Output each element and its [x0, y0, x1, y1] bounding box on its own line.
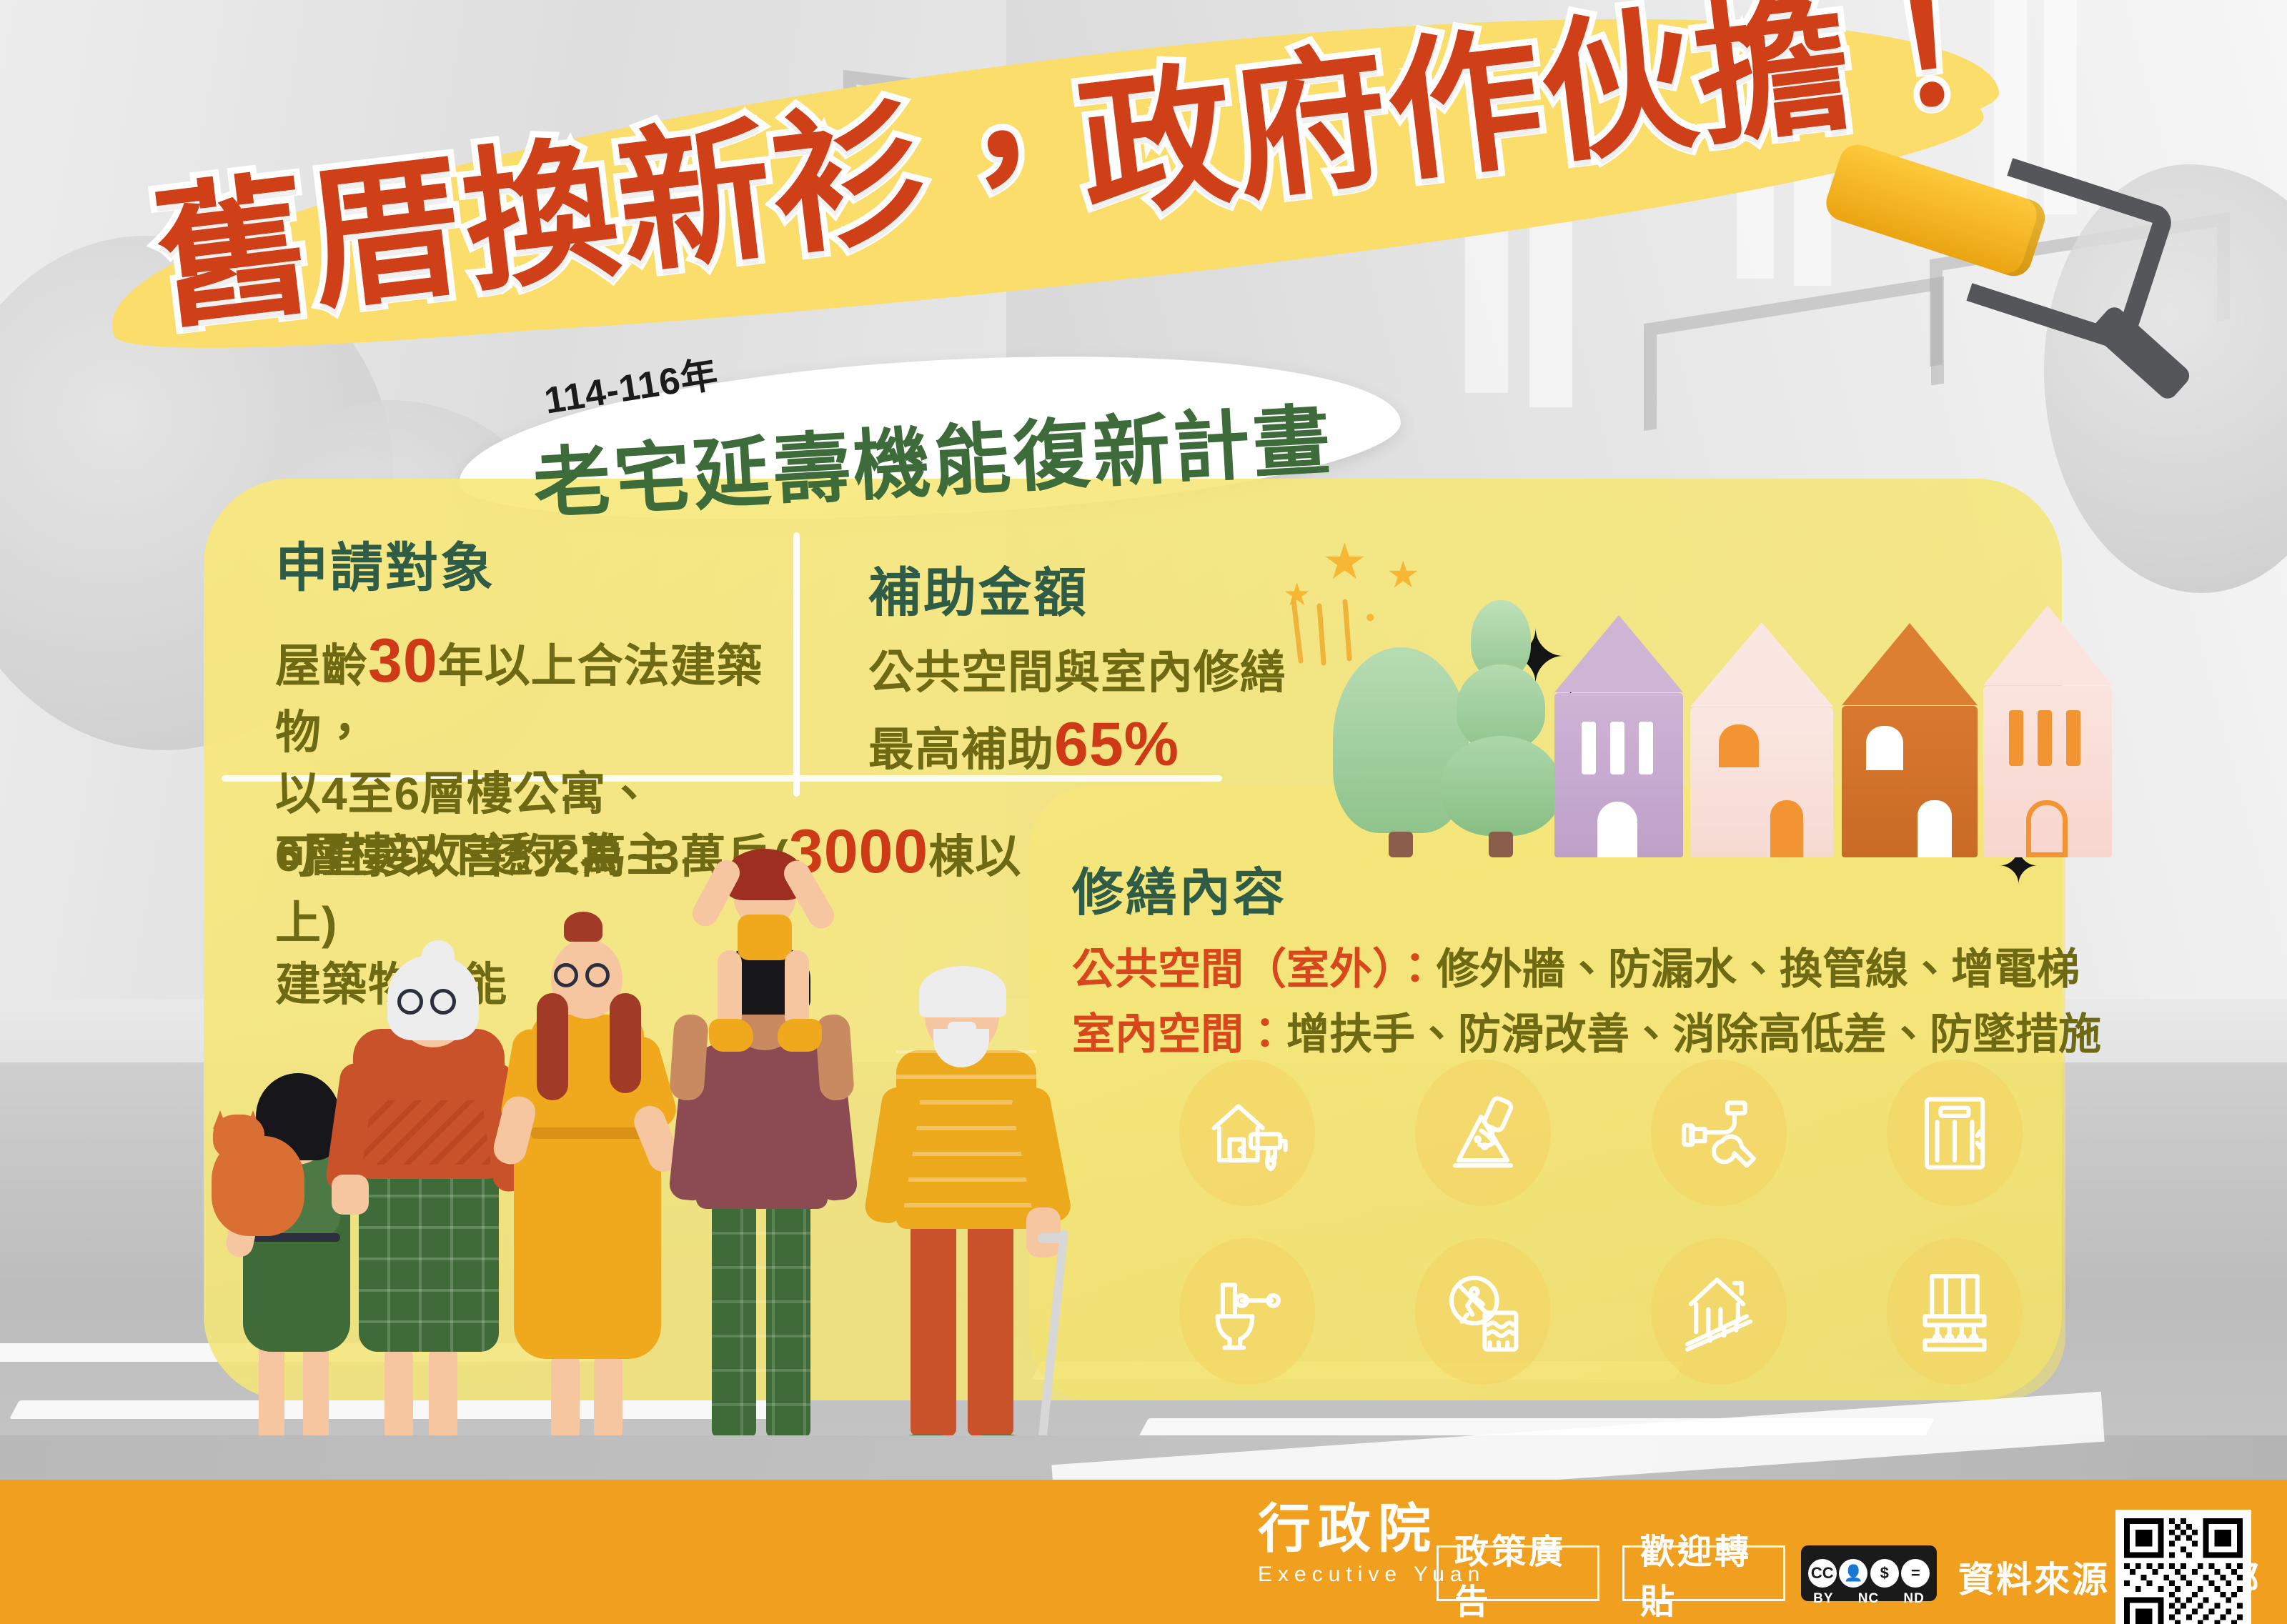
cc-by-icon: 👤 — [1839, 1559, 1867, 1588]
scope-row-indoor: 室內空間：增扶手、防滑改善、消除高低差、防墜措施 — [1072, 1006, 2094, 1062]
scope-public-label: 公共空間（室外）： — [1072, 945, 1437, 993]
footer-bar: 行政院 Executive Yuan 政策廣告 歡迎轉貼 CC 👤 $ = BY… — [0, 1480, 2287, 1624]
waterproofing-trowel-icon — [1439, 1089, 1527, 1176]
scope-public-value: 修外牆、防漏水、換管線、增電梯 — [1437, 945, 2080, 993]
scope-heading: 修繕內容 — [1072, 850, 2094, 925]
cc-label-nd: ND — [1903, 1591, 1924, 1607]
amount-heading: 補助金額 — [868, 550, 1369, 627]
cc-label-row: BY NC ND — [1801, 1591, 1937, 1607]
person-father-with-child — [643, 879, 879, 1472]
cc-nc-icon: $ — [1870, 1559, 1899, 1588]
scope-indoor-value: 增扶手、防滑改善、消除高低差、防墜措施 — [1286, 1010, 2101, 1058]
house-paint-roller-icon — [1204, 1089, 1291, 1176]
toy-houses-illustration — [1319, 593, 1998, 857]
apply-heading: 申請對象 — [275, 525, 775, 602]
repair-scope-block: 修繕內容 公共空間（室外）：修外牆、防漏水、換管線、增電梯 室內空間：增扶手、防… — [1072, 850, 2094, 1062]
policy-ad-badge[interactable]: 政策廣告 — [1437, 1545, 1599, 1601]
toy-house — [1690, 707, 1833, 857]
anti-slip-floor-icon — [1439, 1267, 1527, 1355]
apply-line1-number: 30 — [368, 627, 438, 695]
family-illustration — [214, 879, 1036, 1472]
house-ramp-icon — [1675, 1267, 1762, 1355]
scope-row-public: 公共空間（室外）：修外牆、防漏水、換管線、增電梯 — [1072, 941, 2094, 997]
person-grandfather — [858, 907, 1072, 1472]
pipe-wrench-icon — [1675, 1089, 1762, 1176]
icon-cell[interactable] — [1880, 1236, 2030, 1386]
toy-tree — [1437, 593, 1565, 857]
elevator-icon — [1911, 1089, 1998, 1176]
toy-house — [1983, 686, 2112, 857]
toy-house — [1842, 706, 1978, 857]
toy-house — [1554, 693, 1683, 857]
cc-nd-icon: = — [1901, 1559, 1930, 1588]
qr-code[interactable] — [2115, 1510, 2251, 1624]
cc-label-by: BY — [1813, 1591, 1833, 1607]
icon-cell[interactable] — [1172, 1236, 1322, 1386]
icon-cell[interactable] — [1644, 1236, 1794, 1386]
footer-divider — [0, 1435, 2287, 1480]
icon-cell[interactable] — [1880, 1057, 2030, 1207]
scope-indoor-label: 室內空間： — [1072, 1010, 1286, 1058]
icon-cell[interactable] — [1408, 1236, 1558, 1386]
cc-label-nc: NC — [1858, 1591, 1879, 1607]
toilet-grab-bar-icon — [1204, 1267, 1291, 1355]
amount-line1: 公共空間與室內修繕 — [868, 647, 1286, 698]
cc-mark: CC — [1808, 1559, 1837, 1588]
subsidy-amount-block: 補助金額 公共空間與室內修繕 最高補助65% — [868, 550, 1369, 786]
poster-root: 舊厝換新衫，政府作伙擔！ 114-116年 老宅延壽機能復新計畫 ★ ★ ★ ●… — [0, 0, 2287, 1624]
column-divider — [793, 532, 800, 797]
icon-cell[interactable] — [1644, 1057, 1794, 1207]
icon-cell[interactable] — [1408, 1057, 1558, 1207]
repair-icon-grid — [1172, 1057, 2037, 1379]
walking-cane — [1036, 1229, 1068, 1464]
balcony-railing-icon — [1911, 1267, 1998, 1355]
amount-percent: 65% — [1054, 710, 1179, 779]
repost-welcome-badge[interactable]: 歡迎轉貼 — [1622, 1545, 1785, 1601]
amount-line2-pre: 最高補助 — [868, 724, 1054, 775]
apply-line1-pre: 屋齡 — [275, 640, 368, 692]
icon-cell[interactable] — [1172, 1057, 1322, 1207]
headline-banner: 舊厝換新衫，政府作伙擔！ — [43, 21, 2151, 357]
